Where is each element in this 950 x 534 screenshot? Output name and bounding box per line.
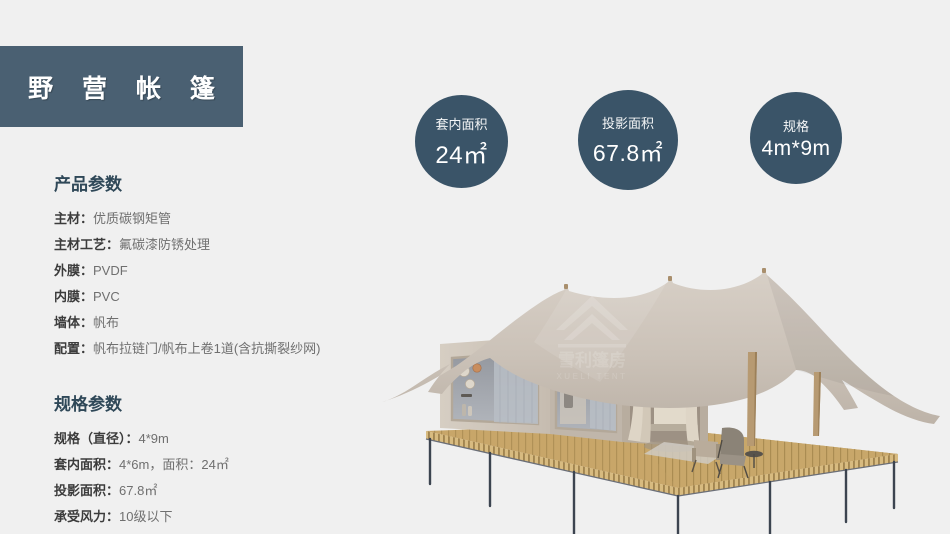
- stat-badge-dimensions: 规格 4m*9m: [750, 92, 842, 184]
- section-heading-dimensions: 规格参数: [54, 390, 384, 415]
- spec-row: 主材：优质碳钢矩管: [54, 206, 384, 232]
- tent-product-image: 雪利篷房 XUELI TENT: [378, 196, 944, 534]
- spec-value: 帆布: [93, 315, 119, 330]
- spec-value: 4*6m，面积：24㎡: [119, 457, 229, 472]
- stat-badge-value: 4m*9m: [761, 137, 830, 161]
- watermark-subtext: XUELI TENT: [556, 372, 627, 381]
- stat-badge-value: 67.8㎡: [593, 134, 663, 168]
- spec-row: 承受风力：10级以下: [54, 504, 384, 530]
- spec-row: 规格（直径）：4*9m: [54, 426, 384, 452]
- stat-badge-projected-area: 投影面积 67.8㎡: [578, 90, 678, 190]
- spec-value: PVC: [93, 289, 120, 304]
- section-heading-product: 产品参数: [54, 170, 384, 195]
- spec-row: 主材工艺：氟碳漆防锈处理: [54, 232, 384, 258]
- spec-row: 配置：帆布拉链门/帆布上卷1道(含抗撕裂纱网): [54, 336, 384, 362]
- title-banner: 野 营 帐 篷: [0, 46, 243, 127]
- spec-key: 规格（直径）：: [54, 431, 139, 446]
- spec-key: 主材工艺：: [54, 237, 119, 252]
- stat-badge-label: 投影面积: [602, 113, 654, 132]
- specifications-column: 产品参数 主材：优质碳钢矩管 主材工艺：氟碳漆防锈处理 外膜：PVDF 内膜：P…: [54, 170, 384, 530]
- spec-key: 主材：: [54, 211, 93, 226]
- spec-row: 内膜：PVC: [54, 284, 384, 310]
- watermark-text: 雪利篷房: [558, 350, 626, 370]
- spec-value: PVDF: [93, 263, 128, 278]
- spec-row: 墙体：帆布: [54, 310, 384, 336]
- spec-value: 氟碳漆防锈处理: [119, 237, 210, 252]
- spec-key: 配置：: [54, 341, 93, 356]
- spec-row: 套内面积：4*6m，面积：24㎡: [54, 452, 384, 478]
- spec-key: 外膜：: [54, 263, 93, 278]
- spec-row: 外膜：PVDF: [54, 258, 384, 284]
- page-title: 野 营 帐 篷: [17, 69, 226, 105]
- spec-value: 帆布拉链门/帆布上卷1道(含抗撕裂纱网): [93, 341, 321, 356]
- spec-value: 10级以下: [119, 509, 172, 524]
- spec-key: 投影面积：: [54, 483, 119, 498]
- spec-key: 承受风力：: [54, 509, 119, 524]
- stat-badge-value: 24㎡: [435, 135, 487, 170]
- spec-key: 内膜：: [54, 289, 93, 304]
- spec-key: 套内面积：: [54, 457, 119, 472]
- spec-row: 投影面积：67.8㎡: [54, 478, 384, 504]
- spec-value: 优质碳钢矩管: [93, 211, 171, 226]
- stat-badge-label: 套内面积: [435, 114, 487, 133]
- spec-value: 4*9m: [139, 431, 169, 446]
- stat-badge-label: 规格: [783, 116, 809, 135]
- spec-key: 墙体：: [54, 315, 93, 330]
- spec-value: 67.8㎡: [119, 483, 157, 498]
- stat-badge-interior-area: 套内面积 24㎡: [415, 95, 508, 188]
